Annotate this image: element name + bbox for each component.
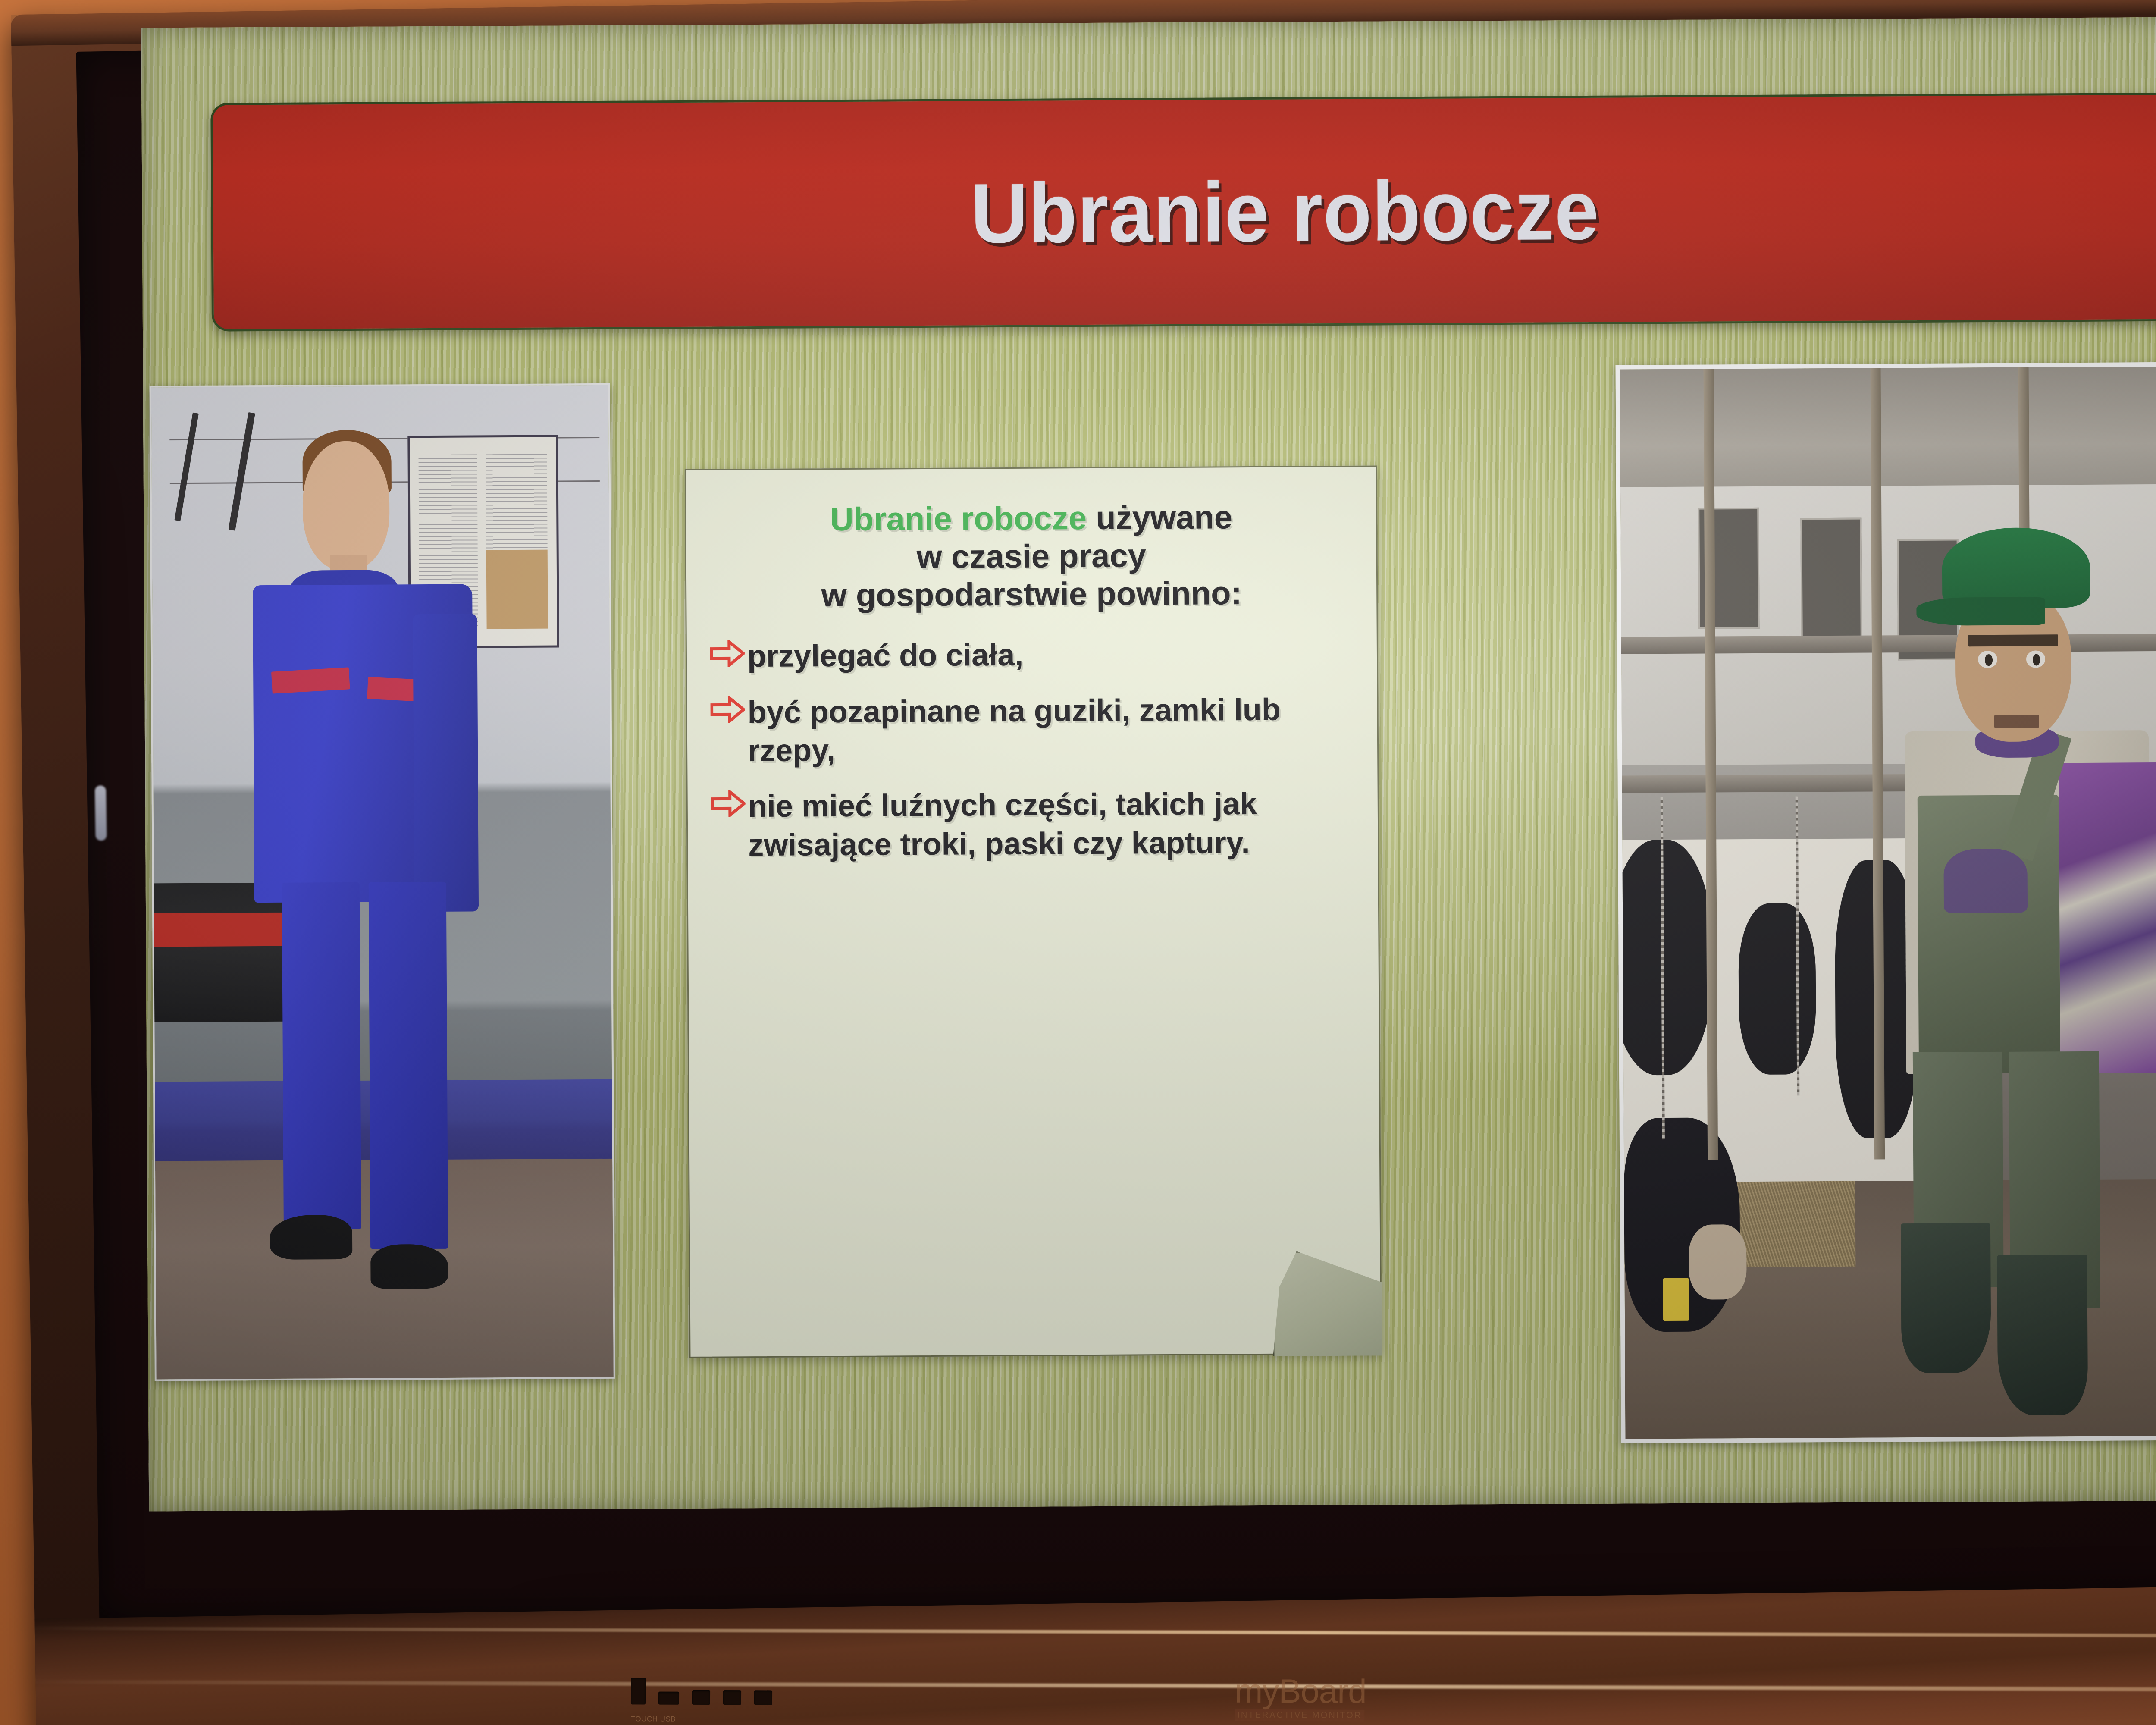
right-arrow-icon (710, 696, 747, 723)
touch-usb-port[interactable] (631, 1678, 646, 1704)
photo-farmer-green-overalls-cowshed (1615, 362, 2156, 1443)
list-item: nie mieć luźnych części, takich jak zwis… (711, 784, 1355, 865)
device-brand-subtitle: INTERACTIVE MONITOR (1235, 1709, 1364, 1722)
page-title: Ubranie robocze (970, 161, 1599, 262)
photo-young-man-blue-overalls (150, 383, 615, 1381)
usb-port-1[interactable] (692, 1690, 710, 1705)
list-item-label: przylegać do ciała, (747, 634, 1354, 676)
presentation-slide[interactable]: Ubranie robocze (141, 16, 2156, 1512)
list-item-label: nie mieć luźnych części, takich jak zwis… (748, 784, 1355, 865)
right-arrow-icon (710, 640, 747, 667)
touch-usb-port-label: TOUCH USB (631, 1715, 676, 1723)
usb-port-2[interactable] (723, 1690, 741, 1705)
right-arrow-icon (711, 790, 748, 817)
hdmi-port[interactable] (658, 1692, 679, 1705)
list-item-label: być pozapinane na guziki, zamki lub rzep… (747, 690, 1354, 771)
list-item: być pozapinane na guziki, zamki lub rzep… (710, 690, 1354, 771)
callout-highlight-term: Ubranie robocze (830, 500, 1087, 538)
callout-lead-line2: w czasie pracy (916, 537, 1146, 575)
port-panel[interactable]: TOUCH USB HDMI 1 USB USB USB (631, 1678, 772, 1705)
callout-lead-line3: w gospodarstwie powinno: (821, 575, 1242, 614)
callout-text-box: Ubranie robocze używane w czasie pracy w… (685, 466, 1382, 1358)
device-brand-logo: myBoard INTERACTIVE MONITOR (1235, 1676, 1366, 1722)
interactive-display-device[interactable]: Ubranie robocze (11, 0, 2156, 1725)
usb-port-3[interactable] (754, 1690, 772, 1705)
device-brand-name: myBoard (1235, 1676, 1366, 1707)
slide-title-banner: Ubranie robocze (210, 92, 2156, 332)
list-item: przylegać do ciała, (710, 634, 1354, 676)
side-status-indicator-icon (95, 785, 107, 841)
callout-folded-corner (1272, 1251, 1382, 1356)
callout-bullet-list: przylegać do ciała, być pozapinane na gu… (710, 634, 1355, 865)
photo-of-room-with-display: Ubranie robocze (0, 0, 2156, 1725)
callout-lead-paragraph: Ubranie robocze używane w czasie pracy w… (709, 498, 1353, 615)
callout-lead-rest: używane (1087, 499, 1232, 536)
